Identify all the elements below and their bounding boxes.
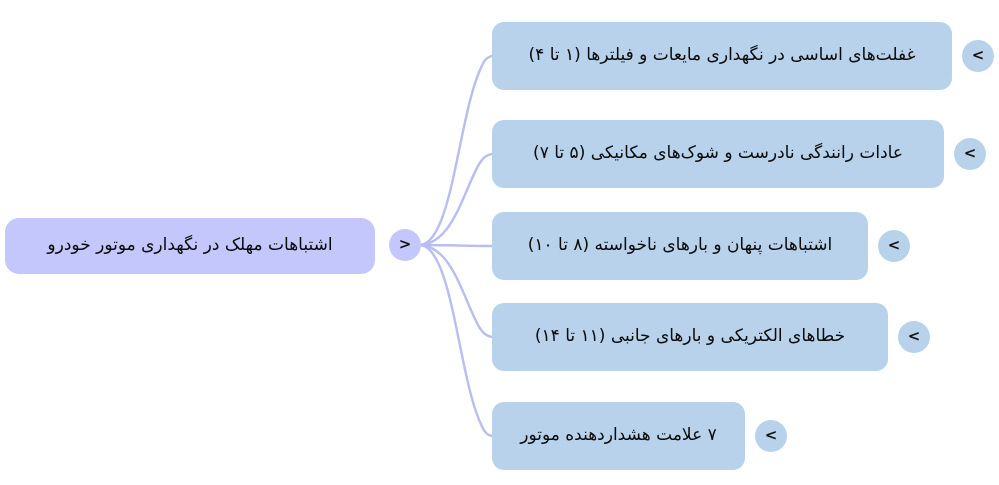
- edge-root-to-child-3: [420, 245, 492, 246]
- root-collapse-toggle[interactable]: >: [389, 229, 421, 261]
- chevron-left-icon: <: [964, 146, 977, 161]
- child-node-5-label: ۷ علامت هشداردهنده موتور: [502, 425, 735, 446]
- root-node-label: اشتباهات مهلک در نگهداری موتور خودرو: [29, 235, 350, 256]
- chevron-left-icon: <: [972, 48, 985, 63]
- child-node-3-label: اشتباهات پنهان و بارهای ناخواسته (۸ تا ۱…: [510, 235, 851, 256]
- edge-root-to-child-2: [420, 154, 492, 245]
- edge-root-to-child-1: [420, 56, 492, 245]
- child-node-4-label: خطاهای الکتریکی و بارهای جانبی (۱۱ تا ۱۴…: [517, 326, 863, 347]
- edge-root-to-child-5: [420, 245, 492, 436]
- mindmap-canvas: اشتباهات مهلک در نگهداری موتور خودرو > غ…: [0, 0, 999, 485]
- chevron-right-icon: >: [399, 237, 412, 252]
- root-node[interactable]: اشتباهات مهلک در نگهداری موتور خودرو: [5, 218, 375, 274]
- child-node-2-label: عادات رانندگی نادرست و شوک‌های مکانیکی (…: [515, 143, 921, 164]
- child-node-1[interactable]: غفلت‌های اساسی در نگهداری مایعات و فیلتر…: [492, 22, 952, 90]
- child-node-2[interactable]: عادات رانندگی نادرست و شوک‌های مکانیکی (…: [492, 120, 944, 188]
- child-node-1-label: غفلت‌های اساسی در نگهداری مایعات و فیلتر…: [511, 45, 934, 66]
- child-node-3[interactable]: اشتباهات پنهان و بارهای ناخواسته (۸ تا ۱…: [492, 212, 868, 280]
- child-1-collapse-toggle[interactable]: <: [962, 40, 994, 72]
- chevron-left-icon: <: [765, 428, 778, 443]
- child-3-collapse-toggle[interactable]: <: [878, 230, 910, 262]
- child-node-5[interactable]: ۷ علامت هشداردهنده موتور: [492, 402, 745, 470]
- child-node-4[interactable]: خطاهای الکتریکی و بارهای جانبی (۱۱ تا ۱۴…: [492, 303, 888, 371]
- chevron-left-icon: <: [888, 238, 901, 253]
- child-4-collapse-toggle[interactable]: <: [898, 321, 930, 353]
- child-5-collapse-toggle[interactable]: <: [755, 420, 787, 452]
- edge-root-to-child-4: [420, 245, 492, 337]
- child-2-collapse-toggle[interactable]: <: [954, 138, 986, 170]
- chevron-left-icon: <: [908, 329, 921, 344]
